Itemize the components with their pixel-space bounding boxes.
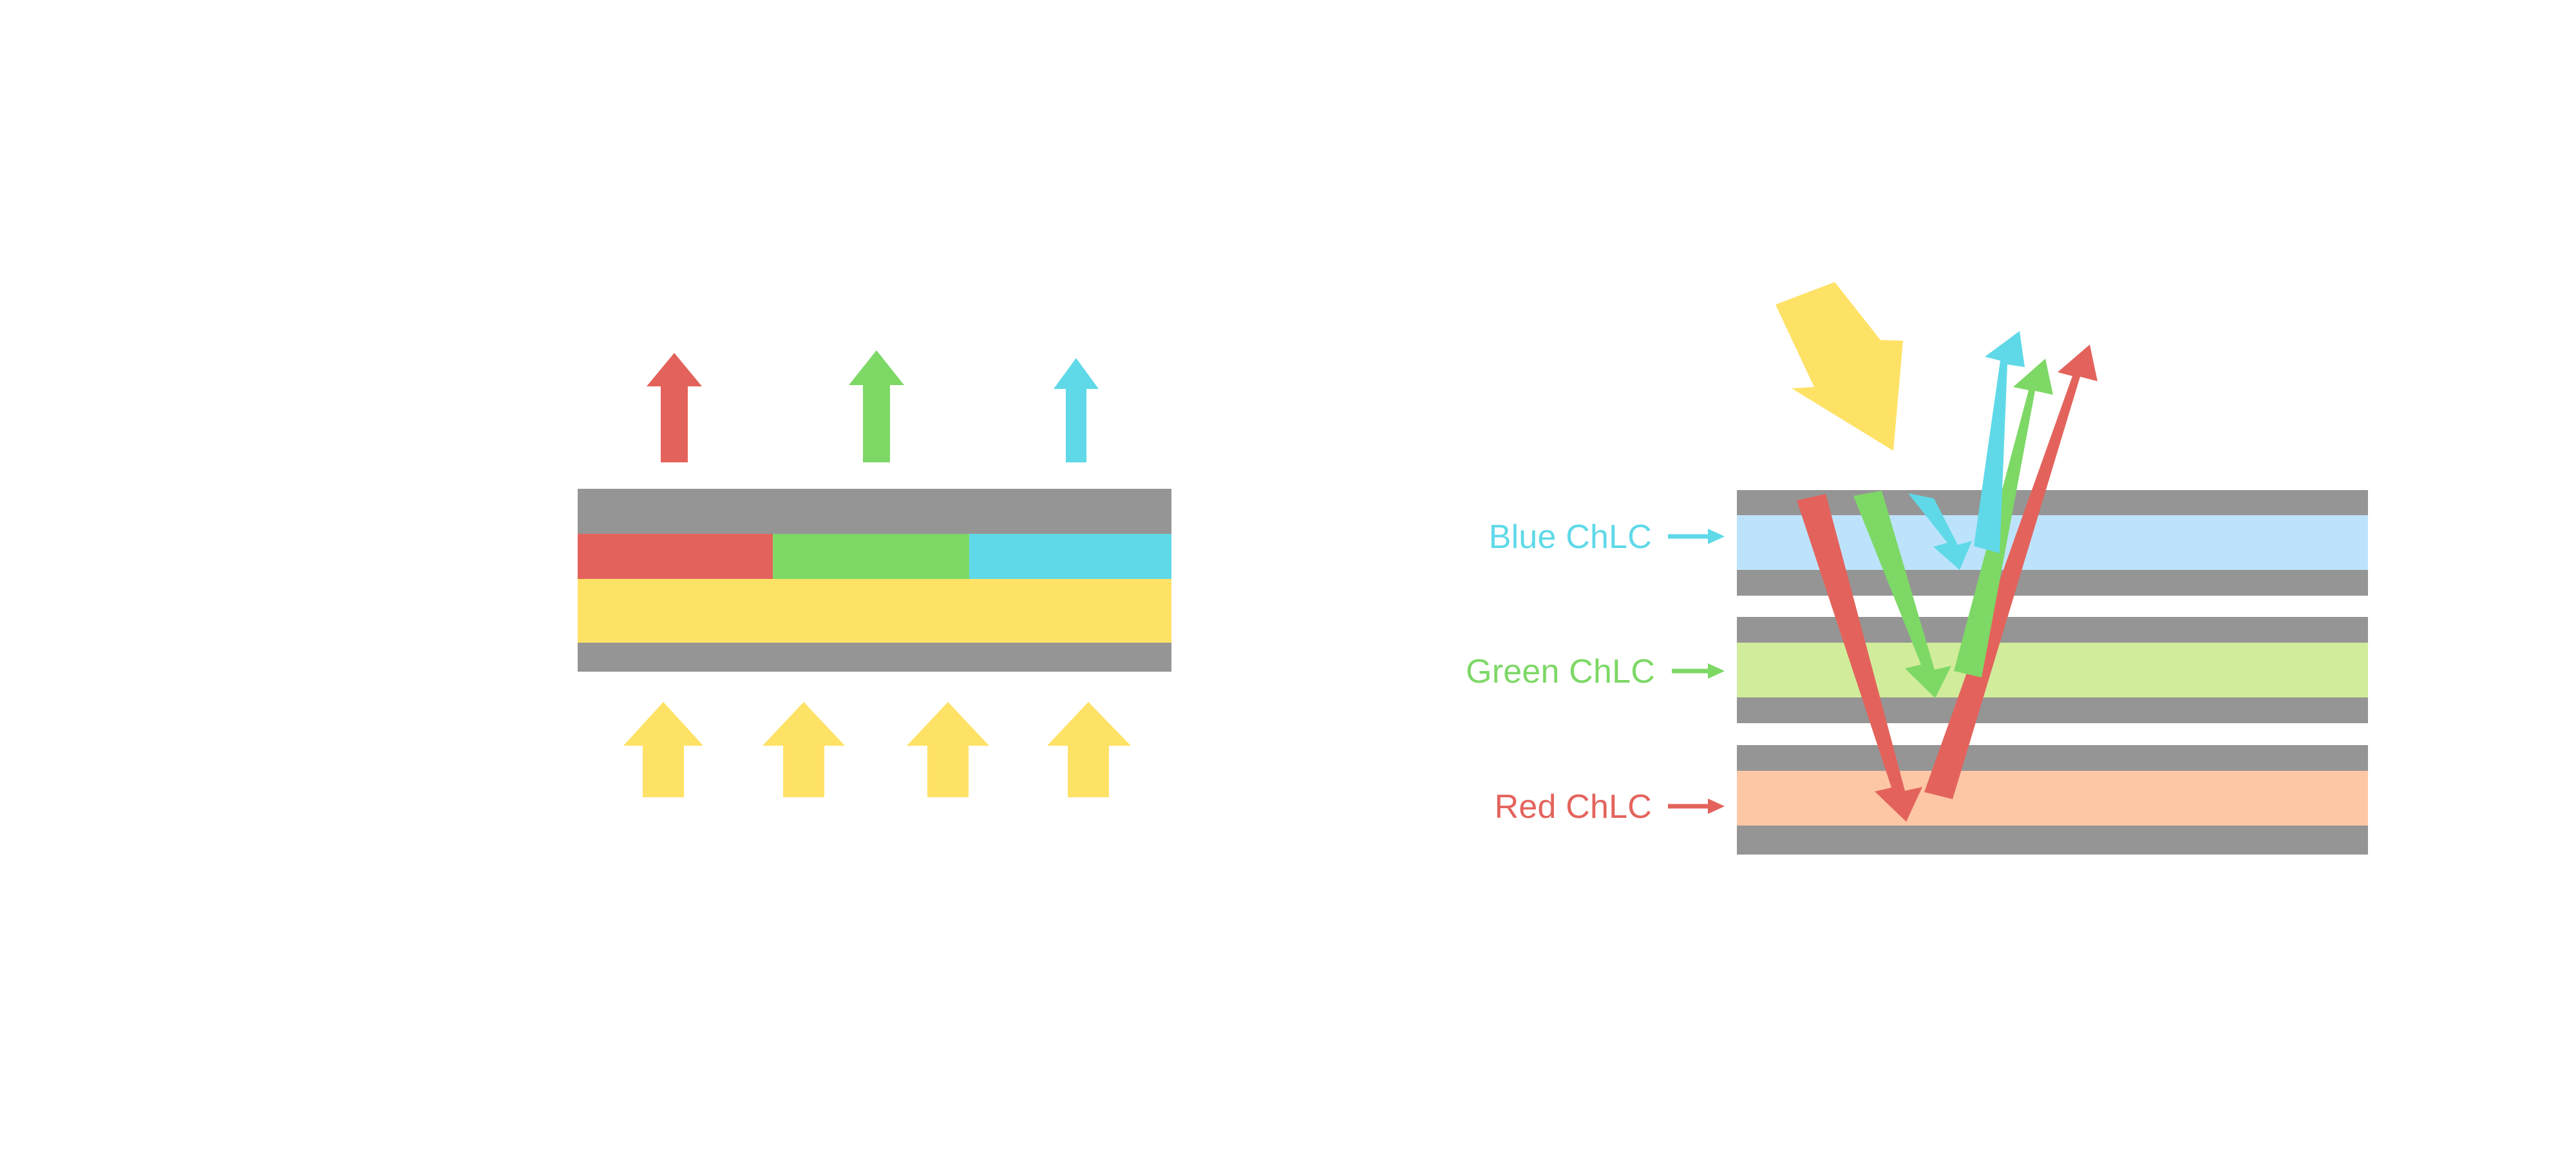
emission-panel xyxy=(578,350,1171,797)
green-cell-bottom-electrode xyxy=(1737,697,2368,723)
emitted-green-arrow xyxy=(849,350,904,462)
red-chlc-layer xyxy=(1737,771,2368,826)
backlight-arrow-1 xyxy=(623,702,703,797)
green-chlc-layer xyxy=(1737,643,2368,697)
red-label-arrow-icon xyxy=(1668,799,1725,814)
emitted-blue-arrow xyxy=(1054,358,1099,462)
backlight-arrow-3 xyxy=(907,702,989,797)
ambient-light-arrow xyxy=(1776,282,1903,451)
backlight-arrow-4 xyxy=(1047,702,1131,797)
left-bottom-electrode xyxy=(578,643,1171,672)
blue-cell-top-electrode xyxy=(1737,490,2368,515)
red-cell-bottom-electrode xyxy=(1737,826,2368,855)
backlight-arrow-2 xyxy=(762,702,845,797)
left-top-electrode xyxy=(578,489,1171,534)
diagram-canvas: Blue ChLC Green ChLC Red ChLC xyxy=(0,0,2576,1154)
green-subpixel-filter xyxy=(773,534,969,579)
green-chlc-label: Green ChLC xyxy=(1466,653,1655,690)
blue-subpixel-filter xyxy=(969,534,1171,579)
green-label-arrow-icon xyxy=(1672,663,1725,679)
emitted-red-arrow xyxy=(647,353,702,462)
chlc-display-diagram: Blue ChLC Green ChLC Red ChLC xyxy=(0,0,2576,1154)
red-cell-top-electrode xyxy=(1737,745,2368,771)
green-cell-top-electrode xyxy=(1737,617,2368,643)
red-chlc-label: Red ChLC xyxy=(1495,788,1652,826)
red-subpixel-filter xyxy=(578,534,773,579)
reflection-panel: Blue ChLC Green ChLC Red ChLC xyxy=(1466,282,2368,855)
blue-label-arrow-icon xyxy=(1668,529,1725,544)
left-backlight-layer xyxy=(578,579,1171,643)
blue-chlc-label: Blue ChLC xyxy=(1489,518,1652,556)
